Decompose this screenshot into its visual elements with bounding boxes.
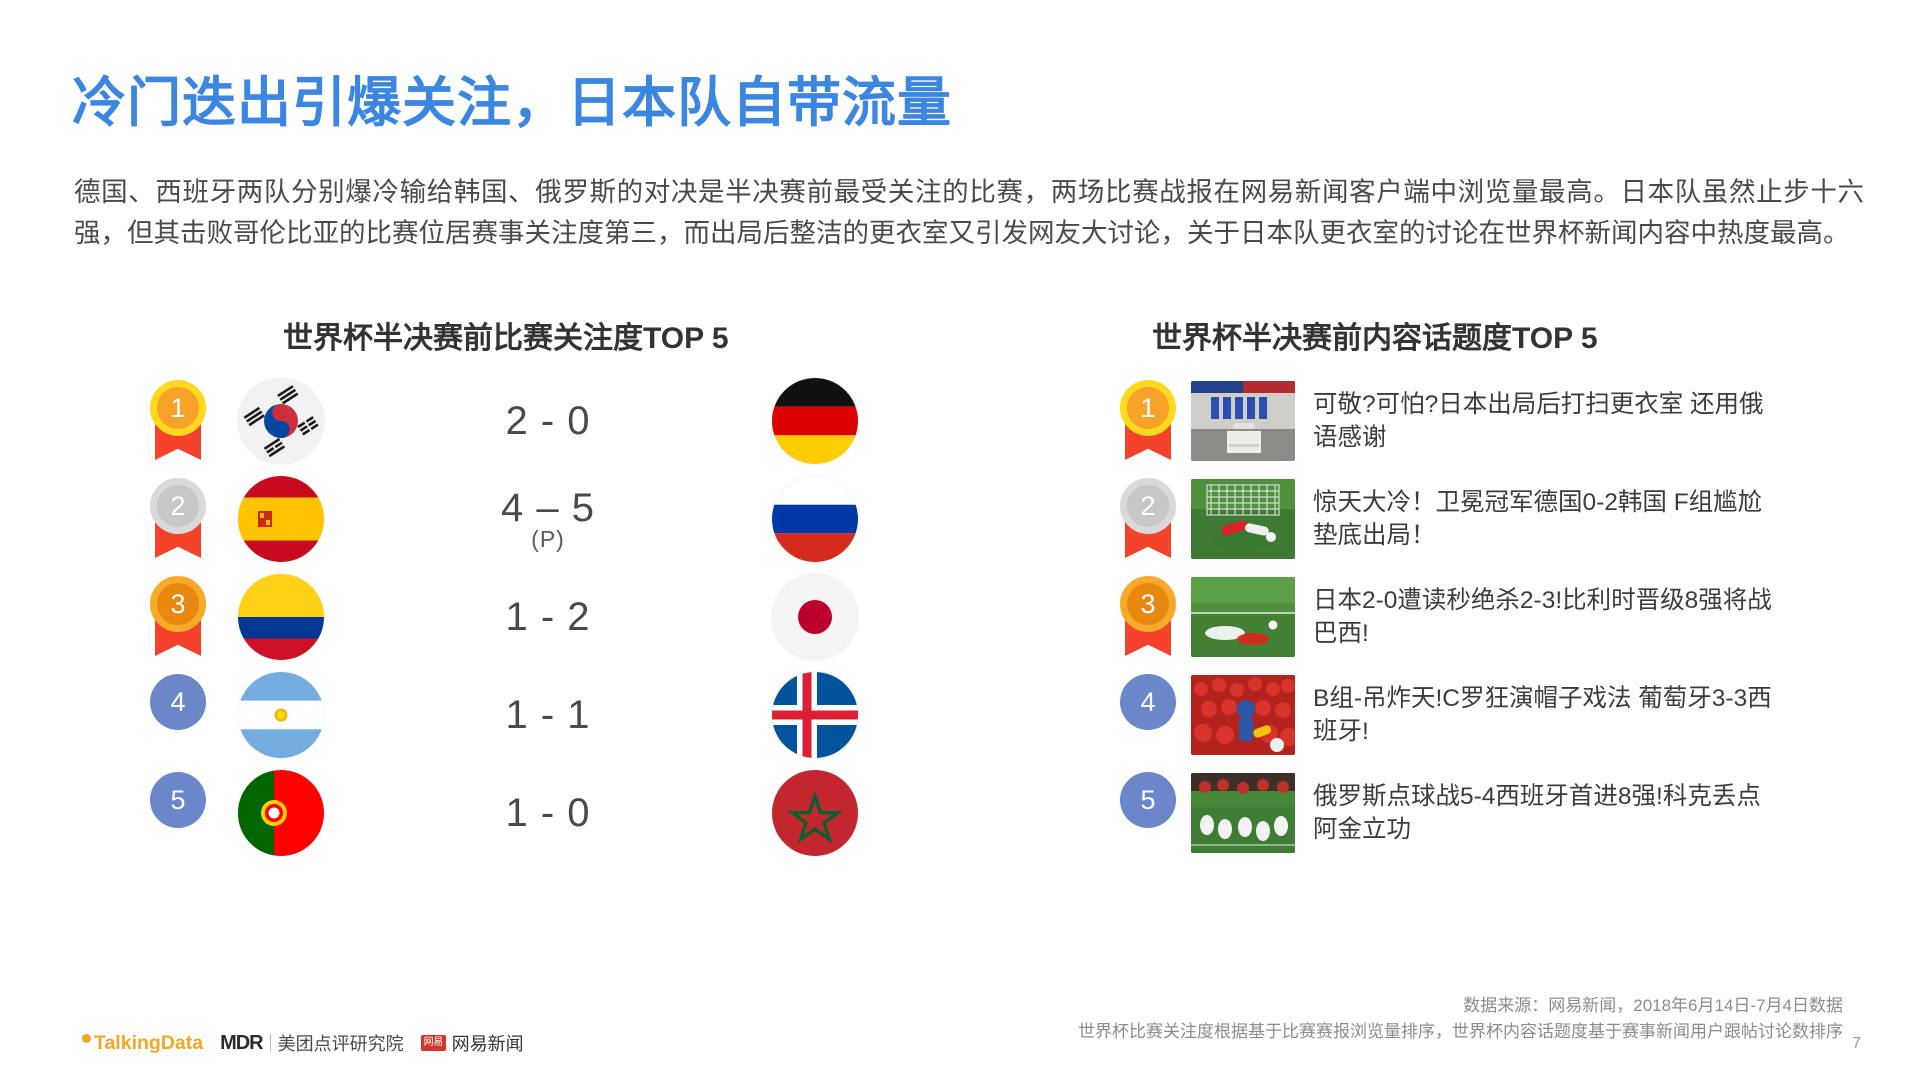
rank-badge-5: 5 — [147, 772, 209, 854]
flag-icon-spain — [238, 476, 324, 562]
list-item[interactable]: 3 日本2-0遭读秒绝杀2-3!比利时晋级8强将战巴西! — [1105, 568, 1895, 666]
page-number: 7 — [1852, 1035, 1861, 1053]
talkingdata-dot-icon — [82, 1034, 91, 1043]
rank-badge-4: 4 — [1117, 674, 1179, 756]
rank-medal-3: 3 — [147, 576, 209, 658]
flag-icon-iceland — [772, 672, 858, 758]
rank-badge-4: 4 — [147, 674, 209, 756]
table-row: 5 1 - 0 — [118, 764, 858, 862]
thumbnail-celebration[interactable] — [1191, 773, 1295, 853]
slide-root: 冷门迭出引爆关注，日本队自带流量 德国、西班牙两队分别爆冷输给韩国、俄罗斯的对决… — [0, 0, 1921, 1080]
rank-medal-1: 1 — [147, 380, 209, 462]
rank-number: 5 — [150, 772, 206, 828]
logo-netease-text: 网易新闻 — [452, 1030, 524, 1056]
match-attention-list: 1 2 - 0 — [118, 372, 858, 862]
list-item[interactable]: 5 俄罗斯点球战5-4西班 — [1105, 764, 1895, 862]
netease-badge-icon: 网易 — [421, 1035, 446, 1051]
table-row: 2 4 – 5 (P) — [118, 470, 858, 568]
rank-cell: 4 — [118, 674, 238, 756]
score-value: 4 – 5 — [501, 486, 595, 530]
logo-mdr-cn-text: 美团点评研究院 — [278, 1030, 404, 1056]
source-line-2: 世界杯比赛关注度根据基于比赛赛报浏览量排序，世界杯内容话题度基于赛事新闻用户跟帖… — [1078, 1019, 1843, 1045]
topic-title: 惊天大冷！卫冕冠军德国0-2韩国 F组尴尬垫底出局！ — [1313, 486, 1783, 552]
flag-icon-argentina — [238, 672, 324, 758]
topic-title: B组-吊炸天!C罗狂演帽子戏法 葡萄牙3-3西班牙! — [1313, 682, 1783, 748]
rank-badge-5: 5 — [1117, 772, 1179, 854]
rank-medal-2: 2 — [1117, 478, 1179, 560]
rank-number: 4 — [150, 674, 206, 730]
logo-talkingdata: TalkingData — [82, 1032, 203, 1055]
topic-title: 俄罗斯点球战5-4西班牙首进8强!科克丢点阿金立功 — [1313, 780, 1783, 846]
rank-cell: 1 — [118, 380, 238, 462]
rank-cell: 1 — [1105, 380, 1191, 462]
table-row: 4 1 - 1 — [118, 666, 858, 764]
match-score: 4 – 5 (P) — [324, 487, 772, 552]
thumbnail-red-crowd[interactable] — [1191, 675, 1295, 755]
rank-number: 3 — [1120, 576, 1176, 632]
score-value: 2 - 0 — [505, 399, 590, 443]
rank-medal-3: 3 — [1117, 576, 1179, 658]
rank-cell: 3 — [1105, 576, 1191, 658]
rank-medal-1: 1 — [1117, 380, 1179, 462]
flag-icon-japan — [772, 574, 858, 660]
rank-number: 1 — [150, 380, 206, 436]
rank-number: 2 — [1120, 478, 1176, 534]
body-paragraph: 德国、西班牙两队分别爆冷输给韩国、俄罗斯的对决是半决赛前最受关注的比赛，两场比赛… — [74, 172, 1864, 254]
right-column-heading: 世界杯半决赛前内容话题度TOP 5 — [1152, 313, 1598, 357]
footer-logos: TalkingData MDR 美团点评研究院 网易 网易新闻 — [82, 1030, 524, 1056]
logo-mdr-text: MDR — [220, 1032, 263, 1055]
flag-icon-germany — [772, 378, 858, 464]
rank-cell: 5 — [118, 772, 238, 854]
flag-icon-morocco — [772, 770, 858, 856]
rank-cell: 5 — [1105, 772, 1191, 854]
left-column-heading: 世界杯半决赛前比赛关注度TOP 5 — [283, 313, 729, 357]
thumbnail-pitch-players[interactable] — [1191, 577, 1295, 657]
table-row: 3 1 - 2 — [118, 568, 858, 666]
list-item[interactable]: 1 可敬?可怕?日本出局后打扫更衣室 还用俄语感谢 — [1105, 372, 1895, 470]
rank-number: 4 — [1120, 674, 1176, 730]
rank-cell: 3 — [118, 576, 238, 658]
match-score: 2 - 0 — [324, 400, 772, 442]
table-row: 1 2 - 0 — [118, 372, 858, 470]
source-line-1: 数据来源：网易新闻，2018年6月14日-7月4日数据 — [1078, 993, 1843, 1019]
rank-number: 5 — [1120, 772, 1176, 828]
rank-cell: 4 — [1105, 674, 1191, 756]
rank-number: 2 — [150, 478, 206, 534]
rank-medal-2: 2 — [147, 478, 209, 560]
score-value: 1 - 2 — [505, 595, 590, 639]
topic-hotness-list: 1 可敬?可怕?日本出局后打扫更衣室 还用俄语感谢 — [1105, 372, 1895, 862]
flag-icon-russia — [772, 476, 858, 562]
rank-number: 1 — [1120, 380, 1176, 436]
topic-title: 可敬?可怕?日本出局后打扫更衣室 还用俄语感谢 — [1313, 388, 1783, 454]
list-item[interactable]: 4 B组-吊炸天!C罗狂演帽子戏法 葡萄牙3-3西班牙! — [1105, 666, 1895, 764]
page-title: 冷门迭出引爆关注，日本队自带流量 — [72, 58, 952, 137]
flag-icon-colombia — [238, 574, 324, 660]
flag-icon-portugal — [238, 770, 324, 856]
topic-title: 日本2-0遭读秒绝杀2-3!比利时晋级8强将战巴西! — [1313, 584, 1783, 650]
match-score: 1 - 1 — [324, 694, 772, 736]
rank-cell: 2 — [118, 478, 238, 560]
logo-meituan-research: MDR 美团点评研究院 — [220, 1030, 404, 1056]
penalty-note: (P) — [324, 527, 772, 551]
list-item[interactable]: 2 惊天大冷！卫冕冠军德国0-2韩国 F组尴尬垫底出局！ — [1105, 470, 1895, 568]
rank-number: 3 — [150, 576, 206, 632]
flag-icon-korea — [238, 378, 324, 464]
logo-talkingdata-text: TalkingData — [94, 1032, 203, 1055]
thumbnail-locker-room[interactable] — [1191, 381, 1295, 461]
score-value: 1 - 1 — [505, 693, 590, 737]
match-score: 1 - 0 — [324, 792, 772, 834]
logo-netease-news: 网易 网易新闻 — [421, 1030, 524, 1056]
match-score: 1 - 2 — [324, 596, 772, 638]
thumbnail-goalmouth-save[interactable] — [1191, 479, 1295, 559]
score-value: 1 - 0 — [505, 791, 590, 835]
source-note: 数据来源：网易新闻，2018年6月14日-7月4日数据 世界杯比赛关注度根据基于… — [1078, 993, 1843, 1045]
rank-cell: 2 — [1105, 478, 1191, 560]
logo-divider — [270, 1034, 271, 1052]
